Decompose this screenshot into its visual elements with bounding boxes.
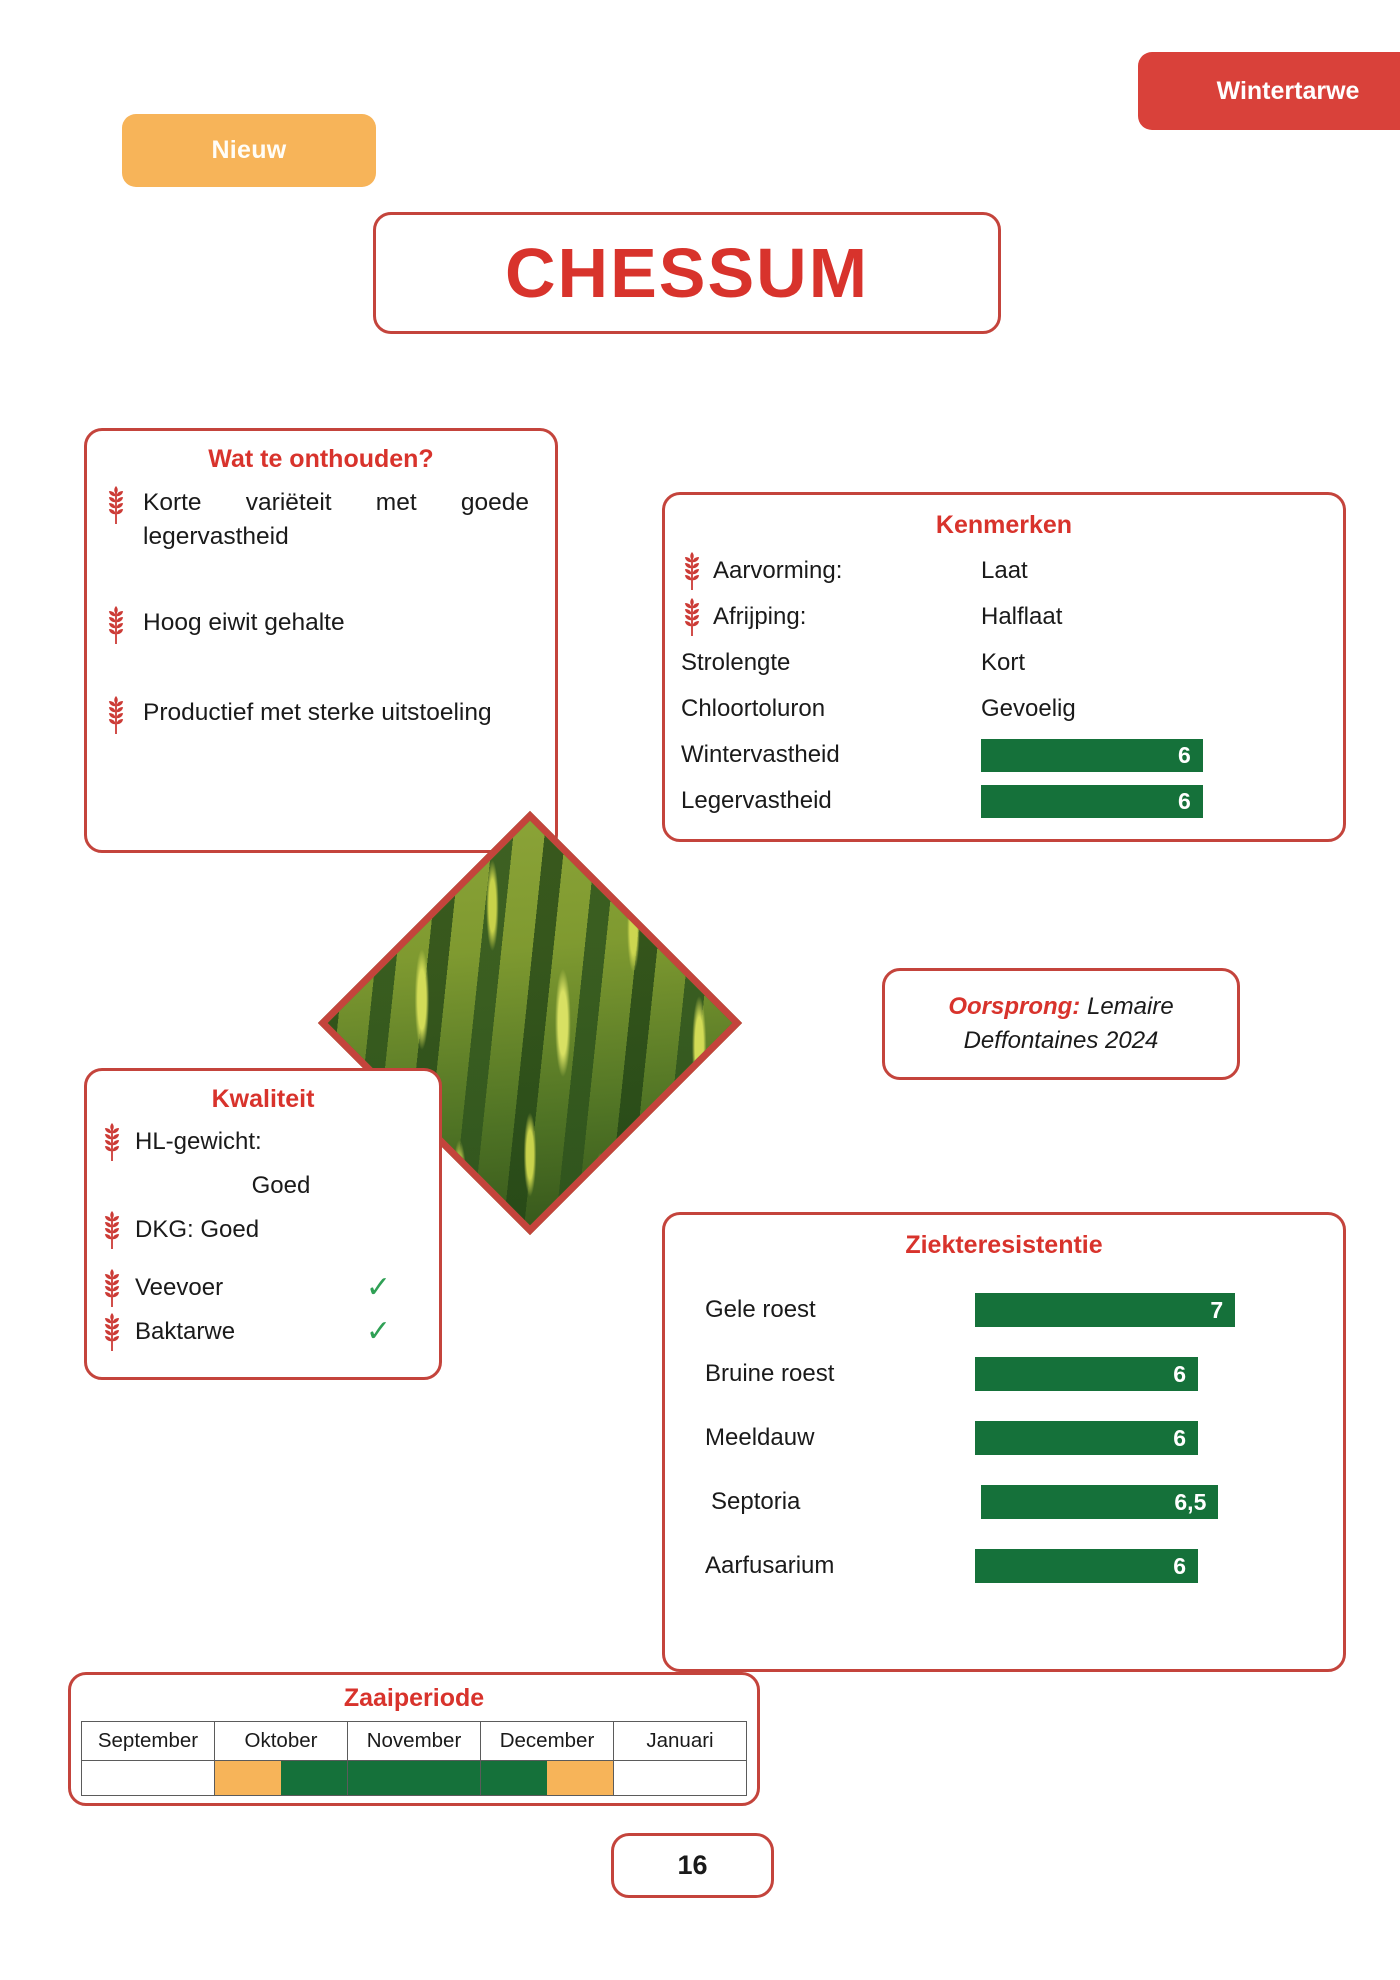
table-row: Aarvorming: Laat <box>681 548 1321 594</box>
kenmerken-rows: Aarvorming: Laat <box>665 548 1343 824</box>
column-header: September <box>82 1722 215 1761</box>
card-kenmerken: Kenmerken <box>662 492 1346 842</box>
segment <box>680 1761 746 1795</box>
segment-row <box>348 1761 480 1795</box>
zaaiperiode-table: September Oktober November December Janu… <box>81 1721 747 1796</box>
column-header: Januari <box>614 1722 747 1761</box>
segment <box>414 1761 480 1795</box>
page-number: 16 <box>677 1850 707 1881</box>
month-cell-oktober <box>215 1761 348 1796</box>
score-bar-track: 6 <box>975 1421 1317 1455</box>
wheat-icon <box>101 1123 123 1161</box>
card-kwaliteit-title: Kwaliteit <box>87 1085 439 1114</box>
score-bar: 7 <box>975 1293 1235 1327</box>
list-item-label: Korte variëteit met goede legervastheid <box>143 486 529 554</box>
card-kenmerken-title: Kenmerken <box>665 511 1343 540</box>
score-bar: 6 <box>975 1357 1198 1391</box>
kenmerken-label-cell: Aarvorming: <box>681 552 981 590</box>
table-row: Strolengte Kort <box>681 640 1321 686</box>
card-ziekteresistentie-title: Ziekteresistentie <box>665 1231 1343 1260</box>
table-row: Bruine roest 6 <box>705 1342 1317 1406</box>
month-cell-januari <box>614 1761 747 1796</box>
card-zaaiperiode-title: Zaaiperiode <box>71 1684 757 1713</box>
segment <box>215 1761 281 1795</box>
row-value: Kort <box>981 649 1025 677</box>
kenmerken-label-cell: Strolengte <box>681 649 981 677</box>
page-title: CHESSUM <box>505 233 869 313</box>
segment <box>348 1761 414 1795</box>
badge-nieuw-label: Nieuw <box>211 136 286 165</box>
score-bar: 6 <box>975 1549 1198 1583</box>
table-row: Aarfusarium 6 <box>705 1534 1317 1598</box>
table-row: Afrijping: Halflaat <box>681 594 1321 640</box>
badge-wintertarwe-label: Wintertarwe <box>1217 77 1360 106</box>
row-label: Legervastheid <box>681 787 832 815</box>
table-row: Chloortoluron Gevoelig <box>681 686 1321 732</box>
segment-row <box>215 1761 347 1795</box>
table-row: Baktarwe ✓ <box>101 1310 421 1354</box>
score-value: 6 <box>1173 1425 1186 1452</box>
month-cell-december <box>481 1761 614 1796</box>
wheat-icon <box>681 598 703 636</box>
list-item: Productief met sterke uitstoeling <box>87 696 555 734</box>
row-label: HL-gewicht: <box>135 1128 421 1156</box>
score-value: 6 <box>1173 1361 1186 1388</box>
list-item: Korte variëteit met goede legervastheid <box>87 486 555 554</box>
score-value: 6,5 <box>1174 1489 1206 1516</box>
row-label: Strolengte <box>681 649 790 677</box>
segment <box>148 1761 214 1795</box>
wheat-icon <box>101 1269 123 1307</box>
row-label: Aarfusarium <box>705 1552 975 1580</box>
wheat-icon <box>105 486 127 524</box>
month-cell-september <box>82 1761 215 1796</box>
column-header: December <box>481 1722 614 1761</box>
score-value: 6 <box>1173 1553 1186 1580</box>
ziekte-rows: Gele roest 7 Bruine roest 6 Meeldauw 6 <box>665 1278 1343 1598</box>
row-label: DKG: Goed <box>135 1216 421 1244</box>
remember-list: Korte variëteit met goede legervastheid … <box>87 486 555 734</box>
month-cell-november <box>348 1761 481 1796</box>
table-row: Wintervastheid 6 <box>681 732 1321 778</box>
segment <box>82 1761 148 1795</box>
score-bar-track: 6 <box>981 739 1321 772</box>
table-row: Veevoer ✓ <box>101 1266 421 1310</box>
row-label: Chloortoluron <box>681 695 825 723</box>
score-value: 6 <box>1178 742 1191 769</box>
variety-title-box: CHESSUM <box>373 212 1001 334</box>
table-row <box>82 1761 747 1796</box>
row-value: Halflaat <box>981 603 1062 631</box>
card-oorsprong: Oorsprong: Lemaire Deffontaines 2024 <box>882 968 1240 1080</box>
kenmerken-label-cell: Chloortoluron <box>681 695 981 723</box>
kwaliteit-hl-value: Goed <box>101 1164 421 1208</box>
oorsprong-label: Oorsprong: <box>948 993 1080 1020</box>
kwaliteit-rows: HL-gewicht: Goed DKG: Goed <box>87 1120 439 1354</box>
score-value: 7 <box>1210 1297 1223 1324</box>
segment-row <box>82 1761 214 1795</box>
segment <box>547 1761 613 1795</box>
score-bar-track: 6,5 <box>981 1485 1317 1519</box>
row-value: Laat <box>981 557 1028 585</box>
list-item: Hoog eiwit gehalte <box>87 606 555 644</box>
table-row: DKG: Goed <box>101 1208 421 1252</box>
check-icon: ✓ <box>366 1317 421 1347</box>
score-bar-track: 6 <box>981 785 1321 818</box>
row-label: Aarvorming: <box>713 557 842 585</box>
column-header: Oktober <box>215 1722 348 1761</box>
table-row: Meeldauw 6 <box>705 1406 1317 1470</box>
table-row: Gele roest 7 <box>705 1278 1317 1342</box>
row-label: Bruine roest <box>705 1360 975 1388</box>
card-kwaliteit: Kwaliteit HL-gewicht: Goed <box>84 1068 442 1380</box>
badge-nieuw: Nieuw <box>122 114 376 187</box>
list-item-label: Productief met sterke uitstoeling <box>143 696 529 730</box>
score-value: 6 <box>1178 788 1191 815</box>
table-row: Legervastheid 6 <box>681 778 1321 824</box>
row-label: Septoria <box>705 1488 981 1516</box>
kenmerken-label-cell: Legervastheid <box>681 787 981 815</box>
list-item-label: Hoog eiwit gehalte <box>143 606 529 640</box>
segment <box>481 1761 547 1795</box>
segment-row <box>481 1761 613 1795</box>
row-label: Wintervastheid <box>681 741 840 769</box>
table-row: Septoria 6,5 <box>705 1470 1317 1534</box>
row-label: Afrijping: <box>713 603 806 631</box>
wheat-icon <box>681 552 703 590</box>
score-bar-track: 6 <box>975 1357 1317 1391</box>
column-header: November <box>348 1722 481 1761</box>
badge-wintertarwe: Wintertarwe <box>1138 52 1400 130</box>
score-bar-track: 7 <box>975 1293 1317 1327</box>
row-label: Meeldauw <box>705 1424 975 1452</box>
wheat-icon <box>101 1313 123 1351</box>
score-bar: 6 <box>981 785 1203 818</box>
wheat-icon <box>105 606 127 644</box>
score-bar-track: 6 <box>975 1549 1317 1583</box>
segment <box>281 1761 347 1795</box>
row-value: Gevoelig <box>981 695 1076 723</box>
kenmerken-label-cell: Afrijping: <box>681 598 981 636</box>
card-wat-te-onthouden-title: Wat te onthouden? <box>87 445 555 474</box>
row-label: Veevoer <box>135 1274 366 1302</box>
wheat-icon <box>105 696 127 734</box>
score-bar: 6,5 <box>981 1485 1218 1519</box>
row-label: Gele roest <box>705 1296 975 1324</box>
segment <box>614 1761 680 1795</box>
page-number-box: 16 <box>611 1833 774 1898</box>
kenmerken-label-cell: Wintervastheid <box>681 741 981 769</box>
table-row: HL-gewicht: <box>101 1120 421 1164</box>
segment-row <box>614 1761 746 1795</box>
score-bar: 6 <box>981 739 1203 772</box>
wheat-icon <box>101 1211 123 1249</box>
card-zaaiperiode: Zaaiperiode September Oktober November D… <box>68 1672 760 1806</box>
oorsprong-text: Oorsprong: Lemaire Deffontaines 2024 <box>885 990 1237 1057</box>
row-label: Baktarwe <box>135 1318 366 1346</box>
score-bar: 6 <box>975 1421 1198 1455</box>
check-icon: ✓ <box>366 1273 421 1303</box>
card-ziekteresistentie: Ziekteresistentie Gele roest 7 Bruine ro… <box>662 1212 1346 1672</box>
table-header-row: September Oktober November December Janu… <box>82 1722 747 1761</box>
